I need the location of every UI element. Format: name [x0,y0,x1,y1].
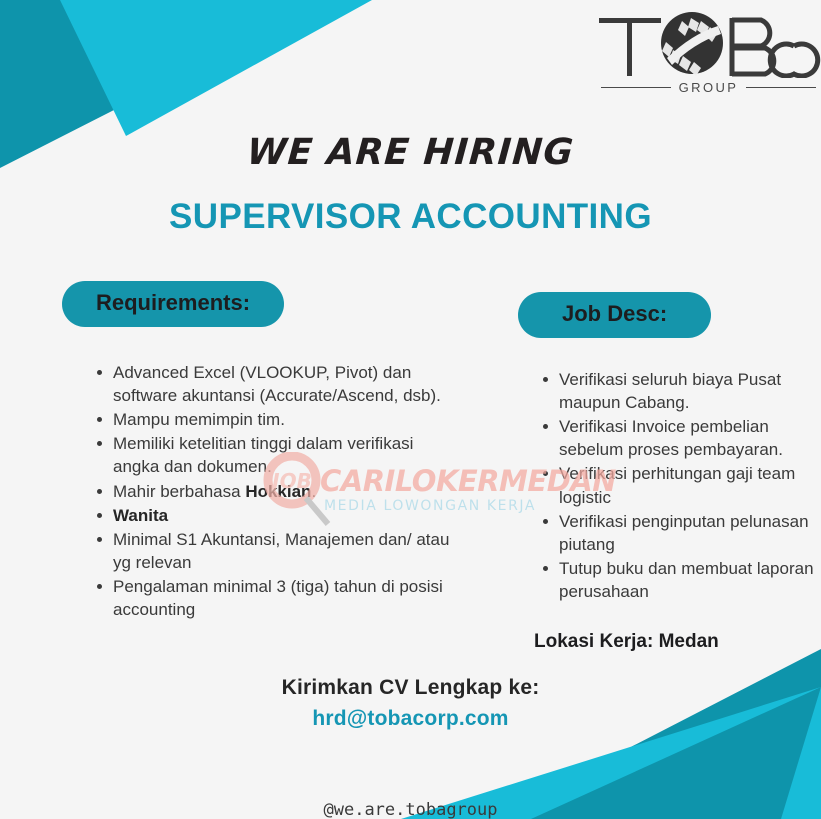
logo-rule-right [746,87,816,88]
list-item: Wanita [92,504,452,527]
list-item: Advanced Excel (VLOOKUP, Pivot) dan soft… [92,361,452,407]
requirements-list: Advanced Excel (VLOOKUP, Pivot) dan soft… [92,361,452,621]
job-poster: GROUP WE ARE HIRING SUPERVISOR ACCOUNTIN… [0,0,821,819]
cv-heading: Kirimkan CV Lengkap ke: [0,676,821,700]
logo-group-rule-row: GROUP [601,80,816,95]
list-item: Memiliki ketelitian tinggi dalam verifik… [92,432,452,478]
jobdesc-column: Job Desc: Verifikasi seluruh biaya Pusat… [518,292,814,653]
cv-email[interactable]: hrd@tobacorp.com [0,707,821,731]
hiring-kicker: WE ARE HIRING [0,132,821,173]
list-item: Mampu memimpin tim. [92,408,452,431]
list-item: Minimal S1 Akuntansi, Manajemen dan/ ata… [92,528,452,574]
list-item: Mahir berbahasa Hokkian. [92,480,452,503]
list-item: Pengalaman minimal 3 (tiga) tahun di pos… [92,575,452,621]
instagram-handle: @we.are.tobagroup [0,800,821,819]
list-item: Verifikasi penginputan pelunasan piutang [538,510,816,556]
jobdesc-pill-label: Job Desc: [518,292,711,338]
list-item: Verifikasi seluruh biaya Pusat maupun Ca… [538,368,816,414]
requirements-pill-label: Requirements: [62,281,284,327]
logo-rule-left [601,87,671,88]
list-item: Verifikasi Invoice pembelian sebelum pro… [538,415,816,461]
work-location: Lokasi Kerja: Medan [534,631,814,653]
toba-wordmark-icon [595,4,821,78]
logo-group-label: GROUP [679,80,739,95]
cv-submission-block: Kirimkan CV Lengkap ke: hrd@tobacorp.com [0,676,821,731]
jobdesc-list: Verifikasi seluruh biaya Pusat maupun Ca… [538,368,816,603]
list-item: Verifikasi perhitungan gaji team logisti… [538,462,816,508]
list-item: Tutup buku dan membuat laporan perusahaa… [538,557,816,603]
page-title: SUPERVISOR ACCOUNTING [0,197,821,237]
toba-group-logo: GROUP [595,4,821,102]
requirements-column: Requirements: Advanced Excel (VLOOKUP, P… [62,281,482,622]
